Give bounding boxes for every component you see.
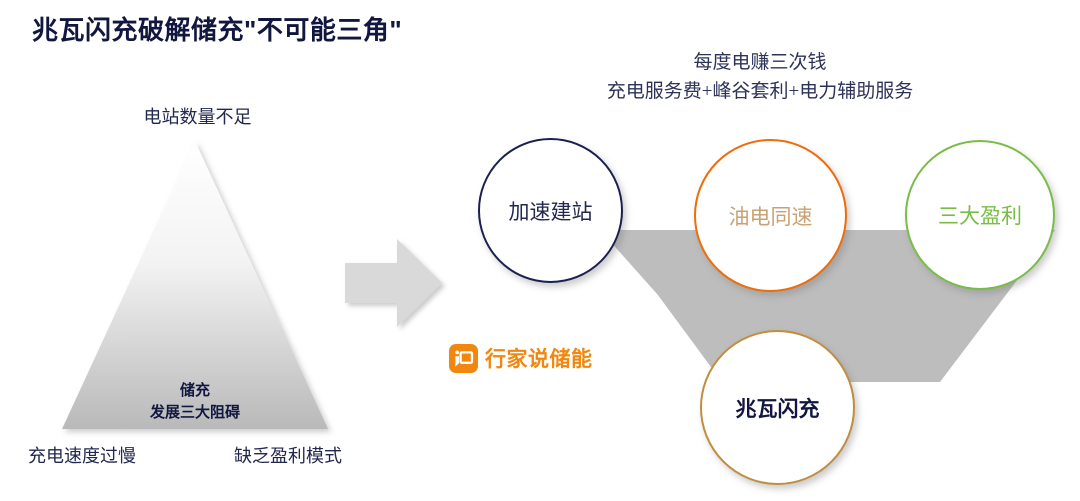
bubble-oil-electric-parity[interactable]: 油电同速 [694, 139, 847, 292]
bubble-accelerate-station[interactable]: 加速建站 [478, 138, 623, 283]
speech-bubble-i-icon [449, 344, 478, 373]
pyramid-center-line-1: 储充 [62, 380, 328, 402]
brand-logo: 行家说储能 [449, 343, 593, 373]
bubble-megawatt-flash-charging[interactable]: 兆瓦闪充 [700, 330, 855, 485]
pyramid-center-text: 储充 发展三大阻碍 [62, 380, 328, 424]
bubble-three-profits[interactable]: 三大盈利 [905, 140, 1055, 290]
page-title: 兆瓦闪充破解储充"不可能三角" [32, 10, 402, 47]
bubble-4-label: 兆瓦闪充 [736, 393, 820, 423]
bubble-3-label: 三大盈利 [938, 200, 1022, 230]
caption-line-2: 充电服务费+峰谷套利+电力辅助服务 [540, 78, 980, 107]
pyramid-label-bottom-left: 充电速度过慢 [28, 442, 136, 468]
pyramid-label-apex: 电站数量不足 [0, 103, 395, 129]
pyramid-diagram: 电站数量不足 储充 发展三大阻碍 充电速度过慢 [0, 95, 400, 495]
caption-line-1: 每度电赚三次钱 [540, 49, 980, 78]
right-arrow-icon [345, 237, 445, 329]
slide-canvas: 兆瓦闪充破解储充"不可能三角" 电站数量不足 储充 [0, 0, 1080, 501]
bubble-1-label: 加速建站 [509, 196, 593, 226]
pyramid-label-bottom-right: 缺乏盈利模式 [234, 442, 342, 468]
pyramid-center-line-2: 发展三大阻碍 [62, 402, 328, 424]
caption-block: 每度电赚三次钱 充电服务费+峰谷套利+电力辅助服务 [540, 49, 980, 106]
brand-logo-text: 行家说储能 [485, 343, 593, 373]
bubble-2-label: 油电同速 [729, 201, 813, 231]
